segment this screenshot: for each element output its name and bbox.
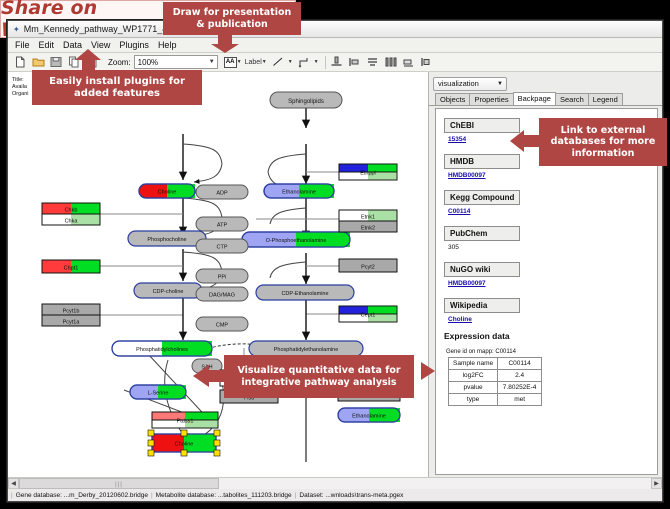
callout-visualize-arrow-head-right: [421, 362, 435, 380]
chevron-down-icon[interactable]: ▼: [288, 59, 293, 65]
statusbar: | Gene database: ...m_Derby_20120602.bri…: [8, 488, 662, 501]
chevron-down-icon[interactable]: ▼: [314, 59, 319, 65]
svg-text:Ethanolamine: Ethanolamine: [282, 190, 316, 196]
menu-help[interactable]: Help: [157, 40, 178, 50]
gene-box-pcyt1b-pcyt1a: Pcyt1b Pcyt1a: [42, 304, 100, 326]
svg-text:Choline: Choline: [175, 442, 194, 448]
expr-label-type: type: [449, 394, 498, 406]
svg-text:Pcyt1b: Pcyt1b: [63, 309, 80, 315]
status-divider-2: |: [295, 492, 297, 499]
callout-visualize-arrow-head: [193, 365, 209, 387]
svg-text:CMP: CMP: [216, 323, 229, 329]
status-gene-database: Gene database: ...m_Derby_20120602.bridg…: [16, 492, 148, 499]
db-link-hmdb[interactable]: HMDB00097: [448, 172, 657, 179]
window-titlebar: ✦ Mm_Kennedy_pathway_WP1771_45176.gpml: [8, 21, 662, 38]
chevron-down-icon[interactable]: ▼: [262, 59, 267, 65]
status-divider-1: |: [151, 492, 153, 499]
db-header-nugo-wiki: NuGO wiki: [444, 262, 520, 277]
node-cdp-choline: CDP-choline: [134, 283, 202, 298]
tab-search[interactable]: Search: [555, 93, 589, 105]
svg-text:Chka: Chka: [65, 219, 79, 225]
scrollbar-grip: |||: [115, 482, 123, 488]
callout-draw: Draw for presentation & publication: [163, 2, 301, 35]
svg-text:Ethanolamine: Ethanolamine: [352, 414, 386, 420]
label-tool-label[interactable]: Label: [245, 59, 262, 66]
db-link-nugo-wiki[interactable]: HMDB00097: [448, 280, 657, 287]
node-l-serine-left: L-Serine: [130, 385, 186, 399]
side-panel-tabs: Objects Properties Backpage Search Legen…: [429, 92, 662, 106]
expr-label-pvalue: pvalue: [449, 382, 498, 394]
svg-text:CDP-choline: CDP-choline: [153, 289, 184, 295]
db-header-wikipedia: Wikipedia: [444, 298, 520, 313]
gene-box-pcyt2: Pcyt2: [339, 259, 397, 272]
table-row: Sample name C00114: [449, 358, 542, 370]
node-phosphatidylethanolamine: Phosphatidylethanolamine: [249, 341, 363, 356]
db-value-pubchem: 305: [448, 244, 657, 251]
svg-text:Phosphatidylethanolamine: Phosphatidylethanolamine: [274, 347, 339, 353]
node-choline-top: Choline: [139, 184, 195, 198]
node-choline-selected: Choline: [148, 430, 220, 456]
line-tool-icon[interactable]: [270, 54, 286, 70]
svg-text:Phosphatidylcholines: Phosphatidylcholines: [136, 347, 188, 353]
db-header-pubchem: PubChem: [444, 226, 520, 241]
svg-text:Cept1: Cept1: [361, 313, 376, 319]
node-phosphocholine: Phosphocholine: [128, 231, 206, 246]
expr-value-log2fc: 2.4: [498, 370, 542, 382]
callout-visualize: Visualize quantitative data for integrat…: [224, 355, 414, 398]
new-file-icon[interactable]: [12, 54, 28, 70]
chevron-down-icon: ▼: [209, 59, 215, 65]
distribute-horizontal-icon[interactable]: [383, 54, 399, 70]
gene-id-on-mapp: Gene id on mapp: C00114: [446, 349, 657, 355]
table-row: type met: [449, 394, 542, 406]
table-row: pvalue 7.80252E-4: [449, 382, 542, 394]
node-ethanolamine-top: Ethanolamine: [264, 184, 334, 198]
zoom-value: 100%: [138, 58, 158, 67]
svg-text:DAG/MAG: DAG/MAG: [209, 293, 235, 299]
zoom-label: Zoom:: [108, 58, 131, 67]
expr-value-sample-name: C00114: [498, 358, 542, 370]
expression-table: Sample name C00114 log2FC 2.4 pvalue 7.8…: [448, 357, 542, 406]
status-divider-0: |: [11, 492, 13, 499]
svg-text:CDP-Ethanolamine: CDP-Ethanolamine: [281, 291, 328, 297]
font-tool-icon[interactable]: AA: [224, 57, 237, 68]
toolbar-separator: [325, 56, 326, 69]
node-ethanolamine-bottom: Ethanolamine: [338, 408, 400, 422]
svg-text:L-Serine: L-Serine: [148, 391, 169, 397]
scrollbar-thumb[interactable]: |||: [19, 478, 219, 489]
svg-text:Chkb: Chkb: [65, 208, 78, 214]
tab-properties[interactable]: Properties: [469, 93, 513, 105]
node-ctp: CTP: [196, 239, 248, 253]
svg-text:Pcyt2: Pcyt2: [361, 265, 375, 271]
node-atp: ATP: [196, 217, 248, 231]
svg-text:Etnk2: Etnk2: [361, 226, 375, 232]
node-sphingolipids: Sphingolipids: [270, 92, 342, 108]
db-header-chebi: ChEBI: [444, 118, 520, 133]
callout-plugins-arrow-shaft: [82, 60, 95, 70]
callout-draw-arrow-shaft: [218, 35, 232, 44]
visualization-combo-value: visualization: [438, 79, 479, 88]
table-row: log2FC 2.4: [449, 370, 542, 382]
node-o-phosphoethanolamine: O-Phosphoethanolamine: [242, 232, 350, 247]
svg-text:Phosphocholine: Phosphocholine: [147, 237, 186, 243]
svg-text:CTP: CTP: [217, 245, 228, 251]
callout-plugins-arrow-head: [75, 49, 101, 60]
svg-text:PPi: PPi: [218, 275, 227, 281]
bring-to-front-icon[interactable]: [419, 54, 435, 70]
stack-vertical-icon[interactable]: [365, 54, 381, 70]
connector-tool-icon[interactable]: [296, 54, 312, 70]
svg-text:Sphingolipids: Sphingolipids: [288, 99, 324, 105]
node-cdp-ethanolamine: CDP-Ethanolamine: [256, 285, 354, 300]
gene-box-ptdss1: Ptdss1: [152, 412, 218, 428]
callout-draw-arrow-head: [211, 44, 239, 53]
node-ppi: PPi: [196, 269, 248, 283]
callout-visualize-arrow-shaft: [208, 370, 226, 382]
expr-label-log2fc: log2FC: [449, 370, 498, 382]
node-cmp: CMP: [196, 317, 248, 331]
svg-text:ATP: ATP: [217, 223, 228, 229]
status-metabolite-database: Metabolite database: ...tabolites_111203…: [156, 492, 292, 499]
svg-text:ADP: ADP: [216, 191, 228, 197]
chevron-down-icon: ▼: [497, 81, 503, 87]
db-link-kegg-compound[interactable]: C00114: [448, 208, 657, 215]
scroll-right-arrow-icon[interactable]: ▶: [651, 478, 662, 489]
callout-link-arrow-head: [510, 130, 524, 152]
align-left-icon[interactable]: [347, 54, 363, 70]
expression-data-title: Expression data: [444, 331, 657, 341]
gene-box-etnppl: Etnppl: [339, 164, 397, 180]
svg-text:O-Phosphoethanolamine: O-Phosphoethanolamine: [266, 238, 327, 244]
expr-label-sample-name: Sample name: [449, 358, 498, 370]
screenshot-root: ✦ Mm_Kennedy_pathway_WP1771_45176.gpml F…: [0, 0, 670, 509]
callout-link: Link to external databases for more info…: [539, 118, 667, 166]
scrollbar-track[interactable]: |||: [19, 478, 651, 489]
expr-value-type: met: [498, 394, 542, 406]
node-dag-mag: DAG/MAG: [196, 287, 248, 301]
callout-plugins: Easily install plugins for added feature…: [32, 70, 202, 105]
svg-text:Etnk1: Etnk1: [361, 215, 375, 221]
gene-box-chkb-chka: Chkb Chka: [42, 203, 100, 225]
gene-box-etnk1-etnk2: Etnk1 Etnk2: [339, 210, 397, 232]
expr-value-pvalue: 7.80252E-4: [498, 382, 542, 394]
gene-box-cept1: Cept1: [339, 306, 397, 322]
tab-backpage[interactable]: Backpage: [513, 92, 556, 105]
db-link-wikipedia[interactable]: Choline: [448, 316, 657, 323]
open-folder-icon[interactable]: [30, 54, 46, 70]
horizontal-scrollbar[interactable]: ◀ ||| ▶: [8, 477, 662, 488]
save-disk-icon[interactable]: [48, 54, 64, 70]
svg-text:Ptdss1: Ptdss1: [177, 419, 194, 425]
pathway-diagram[interactable]: Sphingolipids Choline Ethanolami: [8, 72, 429, 477]
scroll-left-arrow-icon[interactable]: ◀: [8, 478, 19, 489]
align-bottom-icon[interactable]: [329, 54, 345, 70]
node-adp: ADP: [196, 185, 248, 199]
tab-legend[interactable]: Legend: [588, 93, 623, 105]
svg-text:Pcyt1a: Pcyt1a: [63, 320, 81, 326]
visualization-combo[interactable]: visualization ▼: [433, 77, 507, 91]
gene-box-chpt1: Chpt1: [42, 260, 100, 273]
chevron-down-icon[interactable]: ▼: [237, 59, 242, 65]
svg-text:Chpt1: Chpt1: [64, 266, 79, 272]
svg-text:Choline: Choline: [158, 190, 177, 196]
tab-objects[interactable]: Objects: [435, 93, 470, 105]
node-phosphatidylcholines: Phosphatidylcholines: [112, 341, 212, 356]
menu-plugins[interactable]: Plugins: [118, 40, 150, 50]
svg-text:Etnppl: Etnppl: [360, 171, 376, 177]
common-size-icon[interactable]: [401, 54, 417, 70]
db-header-hmdb: HMDB: [444, 154, 520, 169]
pathway-canvas[interactable]: Title: Availa Organi: [8, 72, 429, 477]
callout-link-arrow-shaft: [524, 135, 540, 147]
db-header-kegg-compound: Kegg Compound: [444, 190, 520, 205]
menu-file[interactable]: File: [14, 40, 31, 50]
menubar: File Edit Data View Plugins Help: [8, 38, 662, 53]
app-logo-icon: ✦: [13, 25, 20, 34]
zoom-combo[interactable]: 100% ▼: [134, 55, 218, 69]
menu-edit[interactable]: Edit: [38, 40, 56, 50]
status-dataset: Dataset: ...wnloads\trans-meta.pgex: [299, 492, 403, 499]
visualization-combo-row: visualization ▼: [429, 72, 662, 92]
